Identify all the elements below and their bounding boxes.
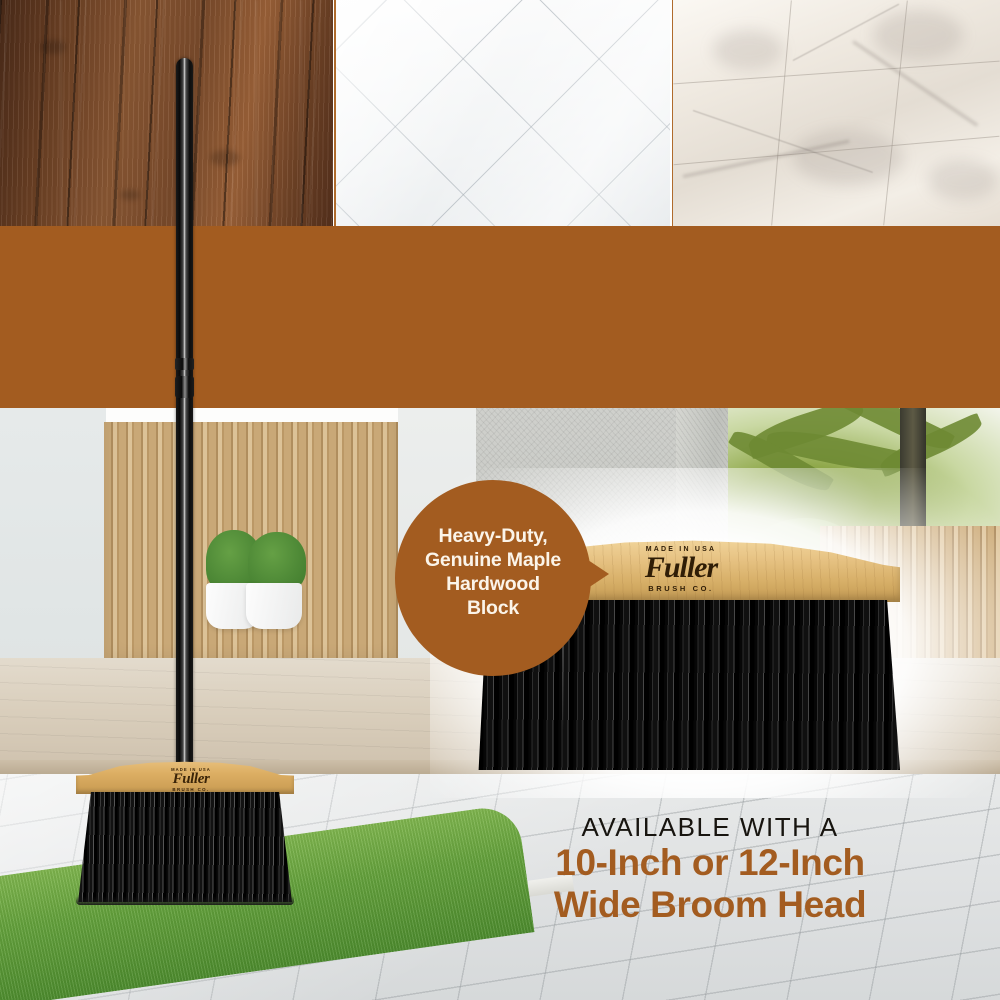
- left-wall: [0, 408, 106, 672]
- marble-floor-panel: [673, 0, 1000, 226]
- headline-banner: Clean Interior Floors or Outdoor Surface…: [0, 226, 1000, 408]
- fuller-logo-large: MADE IN USA Fuller BRUSH CO.: [586, 546, 776, 593]
- callout-text: Heavy-Duty, Genuine Maple Hardwood Block: [395, 524, 591, 620]
- white-tile-floor-panel: [336, 0, 670, 226]
- dark-hardwood-floor-panel: [0, 0, 333, 226]
- size-availability-text: AVAILABLE WITH A 10-Inch or 12-Inch Wide…: [480, 812, 940, 926]
- broom-head-small: MADE IN USA Fuller BRUSH CO.: [60, 760, 310, 905]
- fuller-logo-small: MADE IN USA Fuller BRUSH CO.: [136, 767, 246, 792]
- brush-co-label-small: BRUSH CO.: [136, 787, 246, 792]
- panel-divider-line-2: [672, 0, 674, 226]
- bristle-tips-small: [76, 896, 294, 905]
- callout-line-1: Heavy-Duty,: [395, 524, 591, 548]
- broom-handle: [176, 58, 193, 773]
- product-marketing-image: Clean Interior Floors or Outdoor Surface…: [0, 0, 1000, 1000]
- callout-line-4: Block: [395, 596, 591, 620]
- panel-divider-line-1: [334, 0, 336, 226]
- white-planter-right: [246, 583, 302, 629]
- floor-surface-panels: [0, 0, 1000, 226]
- feature-callout-badge: Heavy-Duty, Genuine Maple Hardwood Block: [395, 480, 591, 676]
- available-with-label: AVAILABLE WITH A: [480, 812, 940, 842]
- product-type-label: Wide Broom Head: [480, 884, 940, 926]
- fuller-wordmark-small: Fuller: [136, 772, 246, 787]
- callout-line-3: Hardwood: [395, 572, 591, 596]
- broom-bristles-small: [78, 792, 292, 902]
- callout-line-2: Genuine Maple: [395, 548, 591, 572]
- brush-co-label: BRUSH CO.: [586, 584, 776, 593]
- size-options-label: 10-Inch or 12-Inch: [480, 842, 940, 884]
- fuller-wordmark: Fuller: [586, 553, 776, 583]
